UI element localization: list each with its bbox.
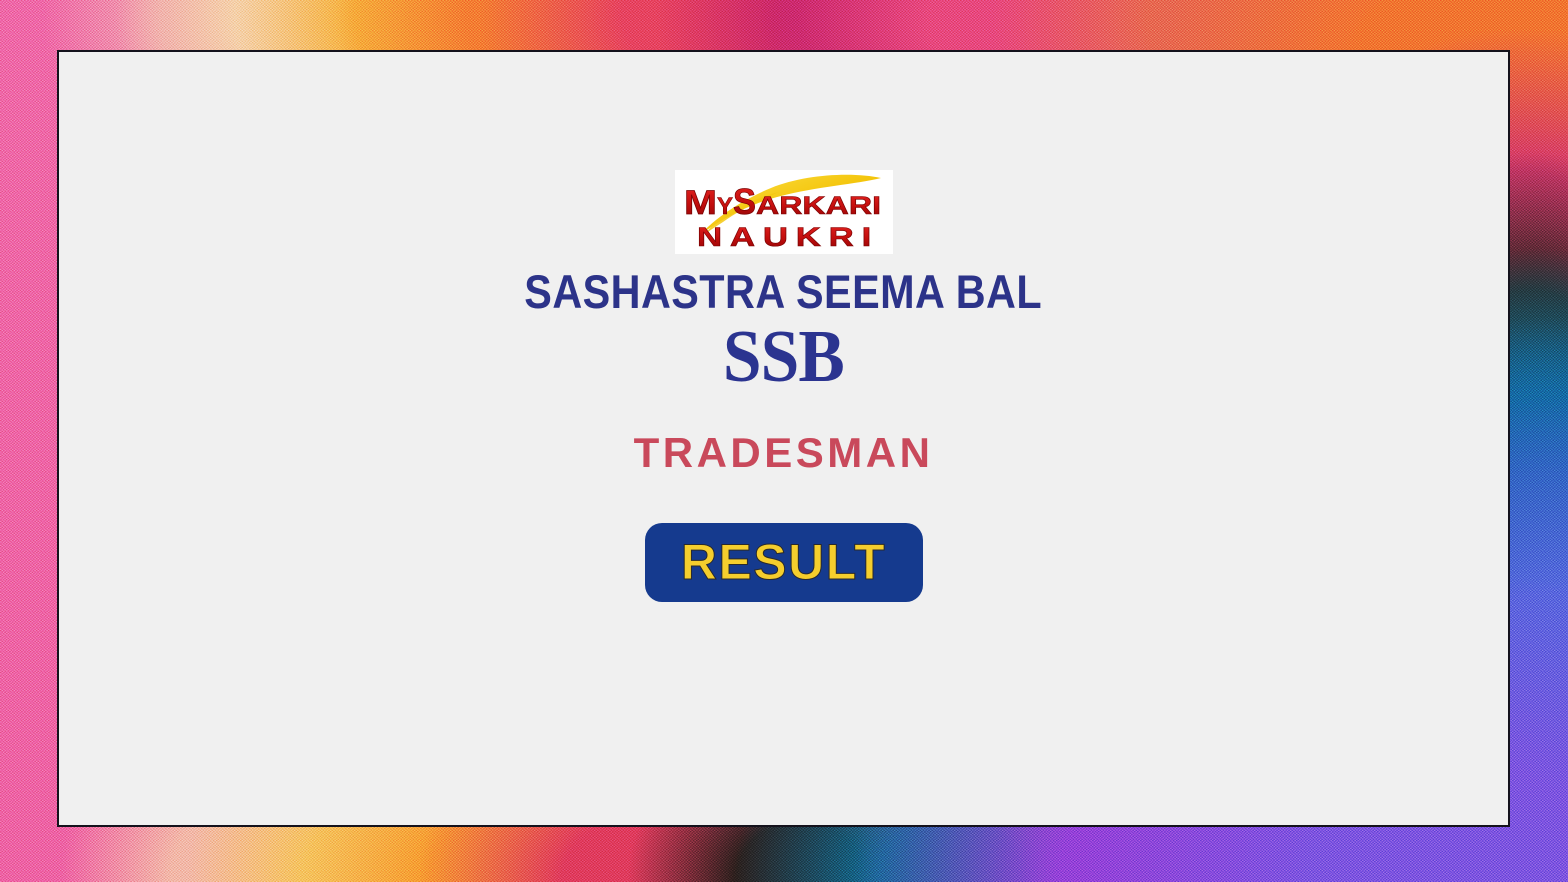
svg-text:S: S bbox=[733, 181, 756, 222]
content-stack: M Y S ARKARI NAUKRI SASHASTRA SEEMA BAL … bbox=[59, 170, 1508, 602]
result-button-label: RESULT bbox=[681, 537, 886, 587]
svg-text:M: M bbox=[684, 184, 717, 222]
organization-name: SASHASTRA SEEMA BAL bbox=[525, 268, 1043, 316]
organization-abbreviation: SSB bbox=[723, 320, 844, 394]
content-card: M Y S ARKARI NAUKRI SASHASTRA SEEMA BAL … bbox=[57, 50, 1510, 827]
mysarkarinaukri-logo: M Y S ARKARI NAUKRI bbox=[675, 170, 893, 254]
svg-text:Y: Y bbox=[717, 193, 733, 220]
post-name: TRADESMAN bbox=[634, 432, 934, 474]
svg-text:NAUKRI: NAUKRI bbox=[697, 222, 879, 252]
svg-text:ARKARI: ARKARI bbox=[756, 192, 881, 220]
result-button[interactable]: RESULT bbox=[645, 523, 923, 602]
poster-canvas: M Y S ARKARI NAUKRI SASHASTRA SEEMA BAL … bbox=[0, 0, 1568, 882]
